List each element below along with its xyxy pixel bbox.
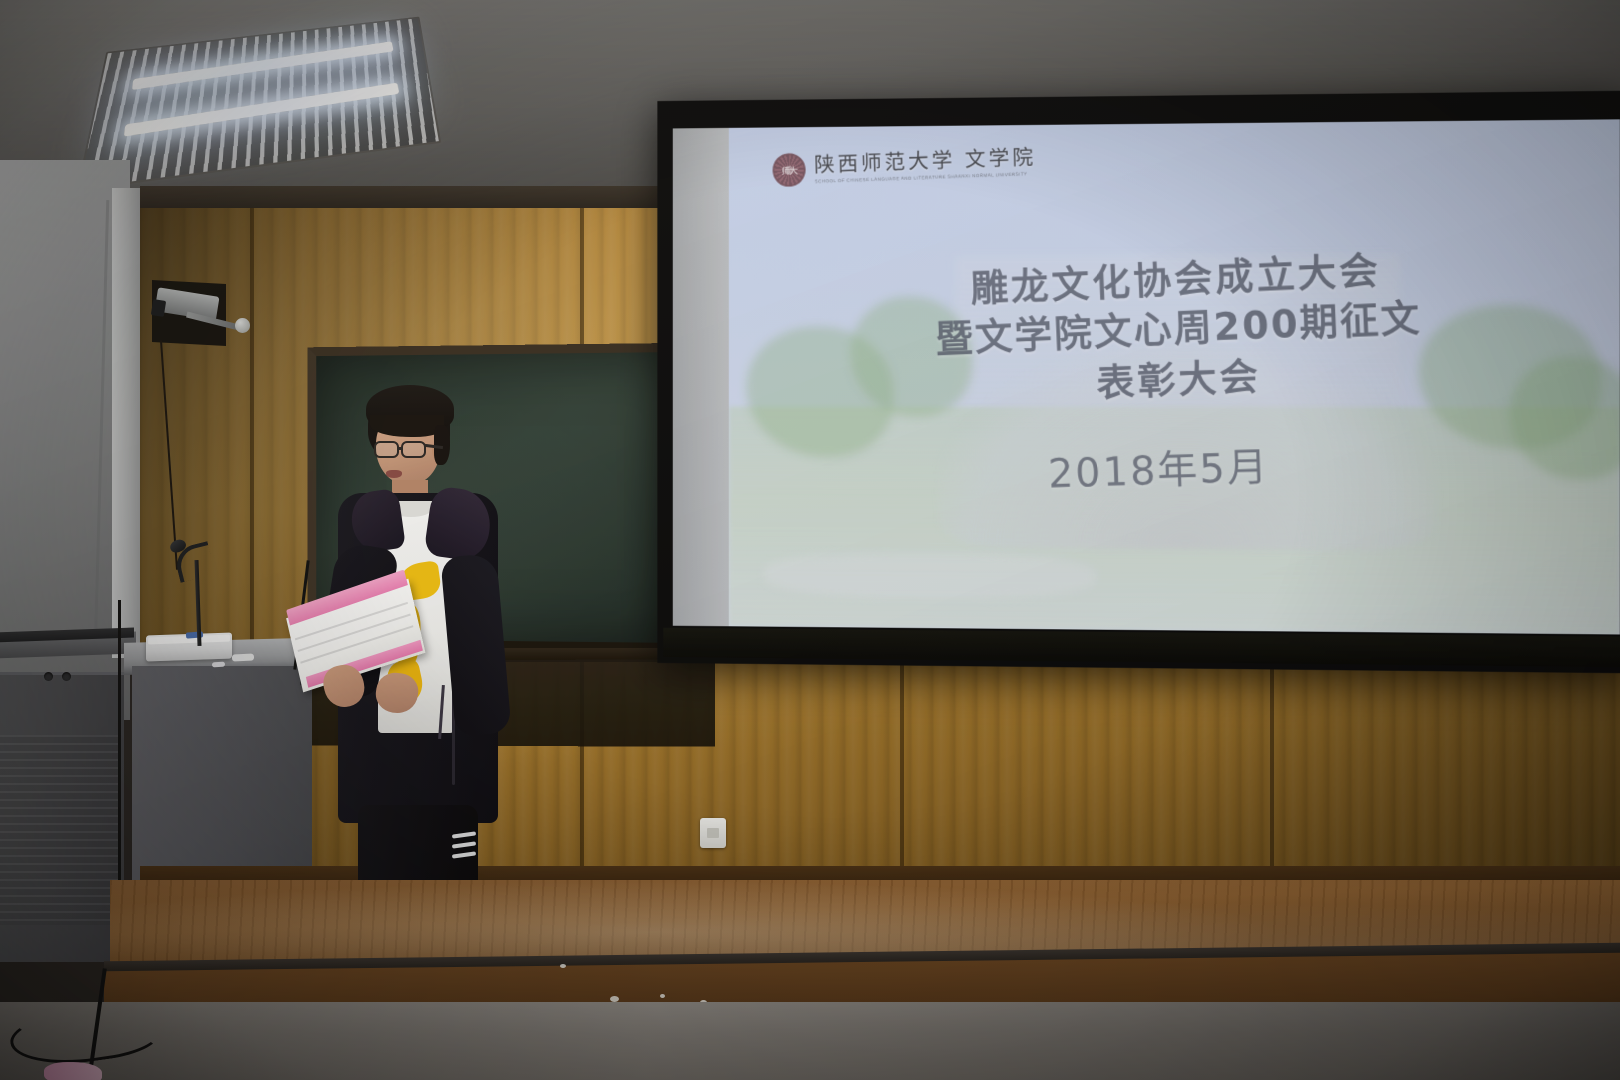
chalk-piece-icon[interactable] [212,662,225,668]
projection-surface: 师大 陕西师范大学 文学院 SCHOOL OF CHINESE LANGUAGE… [673,119,1620,634]
glasses-lens-right [401,441,426,458]
unprojected-strip [673,128,729,626]
classroom-presentation-photo: 师大 陕西师范大学 文学院 SCHOOL OF CHINESE LANGUAGE… [0,0,1620,1080]
glasses-lens-left [374,441,399,458]
screen-bottom-bar [663,628,1620,667]
presentation-slide: 师大 陕西师范大学 文学院 SCHOOL OF CHINESE LANGUAGE… [729,119,1620,634]
pink-object [44,1062,102,1080]
wall-power-outlet[interactable] [700,818,726,848]
cabinet-vent-slots [0,735,118,925]
cabinet-port-icon[interactable] [62,672,71,681]
panel-seam [1270,636,1274,896]
panel-seam [900,636,904,896]
camera-lens-icon [151,299,166,317]
slide-header: 师大 陕西师范大学 文学院 SCHOOL OF CHINESE LANGUAGE… [772,144,1037,187]
white-marker-icon[interactable] [232,653,254,661]
mouth [386,470,402,478]
university-seal-icon: 师大 [772,152,806,187]
glasses-bridge [398,447,403,450]
student-speaker [300,385,530,965]
cabinet-port-icon[interactable] [44,672,53,681]
slide-bg-path [763,552,1096,600]
tile-floor [0,1002,1620,1080]
outlet-slot-icon [707,828,719,838]
seal-label: 师大 [772,152,806,187]
equipment-cabinet[interactable] [0,672,124,962]
projection-screen[interactable]: 师大 陕西师范大学 文学院 SCHOOL OF CHINESE LANGUAGE… [657,91,1620,674]
camera-mount-knob [235,318,250,333]
institution-block: 陕西师范大学 文学院 SCHOOL OF CHINESE LANGUAGE AN… [814,146,1037,183]
floor-shading [0,1002,1620,1080]
chalk-dust-speck [660,994,665,998]
chalk-dust-speck [560,964,566,968]
